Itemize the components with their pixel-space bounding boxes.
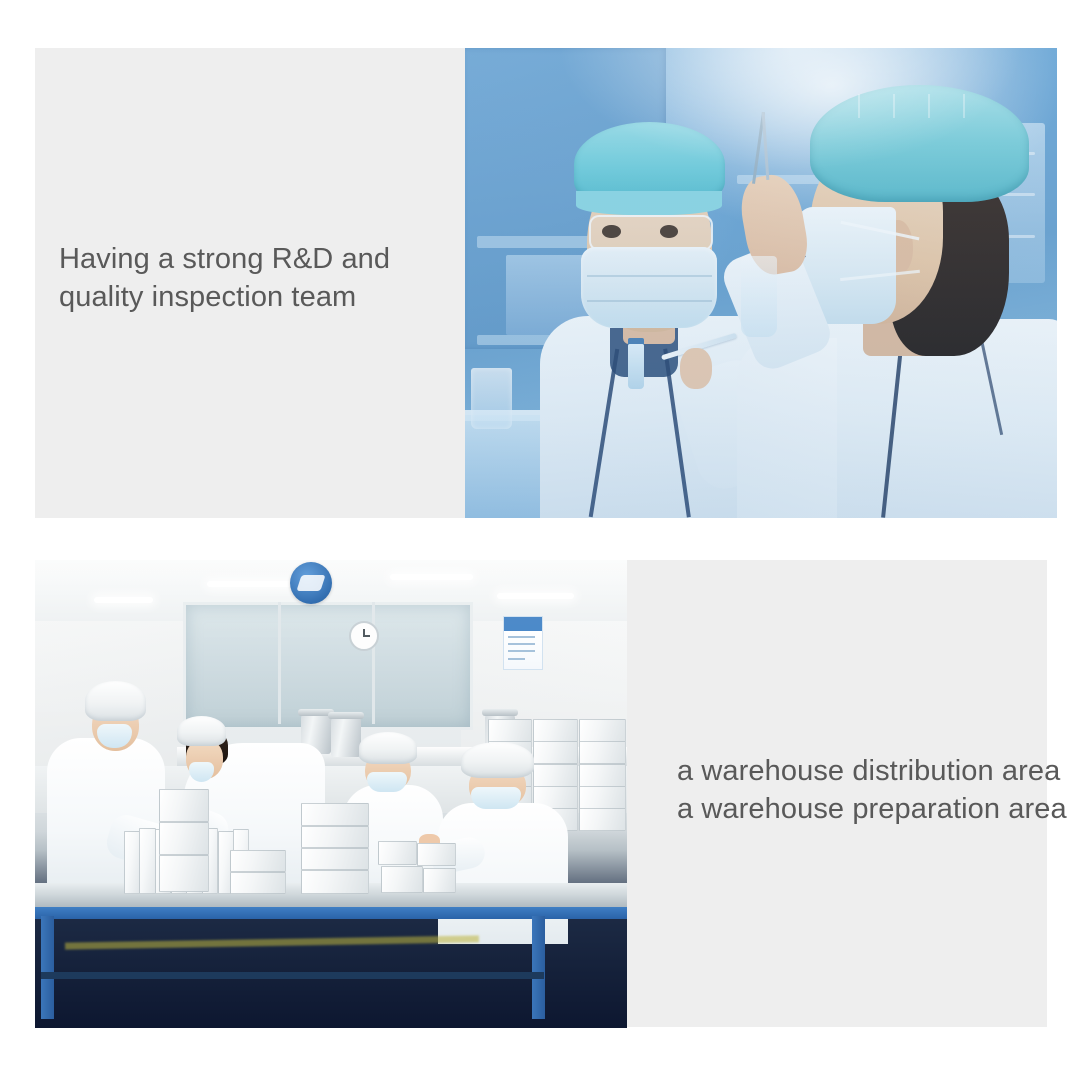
carton <box>301 848 368 870</box>
hairnet-cap <box>85 681 147 721</box>
table-leg <box>41 916 54 1019</box>
carton <box>381 866 423 894</box>
carton <box>579 719 626 742</box>
hairnet-brim <box>576 191 722 215</box>
cap-pleat <box>963 94 965 117</box>
block-warehouse-areas: a warehouse distribution area a warehous… <box>35 560 1047 1028</box>
ceiling-light <box>94 597 153 603</box>
table-rail <box>41 972 544 979</box>
carton <box>124 831 140 895</box>
steel-canister <box>331 717 361 757</box>
carton <box>579 808 626 831</box>
cap-pleat <box>928 94 930 117</box>
eye <box>602 225 620 238</box>
carton <box>230 850 285 872</box>
carton <box>533 719 578 742</box>
lab-scene <box>465 48 1057 518</box>
eye <box>660 225 678 238</box>
tweezers <box>761 112 769 180</box>
hairnet-cap <box>810 85 1029 202</box>
carton <box>533 764 578 787</box>
lab-technician-profile <box>737 67 1057 518</box>
wall-notice-poster <box>503 616 543 670</box>
poster-line <box>508 658 525 660</box>
caption-warehouse-areas: a warehouse distribution area a warehous… <box>677 752 1080 828</box>
ceiling-light <box>390 574 473 580</box>
poster-line <box>508 636 535 638</box>
carton <box>301 870 368 894</box>
warehouse-scene <box>35 560 627 1028</box>
caption-rnd-quality: Having a strong R&D and quality inspecti… <box>59 240 459 316</box>
page-root: Having a strong R&D and quality inspecti… <box>0 0 1080 1080</box>
carton <box>301 803 368 825</box>
hairnet-cap <box>177 716 225 745</box>
blue-circular-sign-icon <box>290 562 332 604</box>
mask-fold <box>587 275 712 277</box>
lab-coat <box>438 803 568 943</box>
box-group-mid <box>230 850 283 892</box>
mask-fold <box>587 300 712 302</box>
warehouse-packing-photo <box>35 560 627 1028</box>
cap-pleat <box>893 94 895 117</box>
box-stack-tall-centre <box>159 789 206 892</box>
carton <box>533 741 578 764</box>
surgical-mask <box>367 772 407 793</box>
caption-panel-bottom: a warehouse distribution area a warehous… <box>627 560 1047 1027</box>
carton <box>159 855 208 892</box>
carton <box>417 843 456 867</box>
flask <box>741 256 777 337</box>
lab-quality-inspection-photo <box>465 48 1057 518</box>
lab-glassware <box>471 368 512 429</box>
shoulder <box>737 338 836 518</box>
carton <box>159 789 208 822</box>
box-group-right <box>378 841 455 892</box>
wall-clock-icon <box>349 621 379 651</box>
block-rnd-quality: Having a strong R&D and quality inspecti… <box>35 48 1057 518</box>
ceiling-light <box>497 593 574 599</box>
hand <box>680 348 711 388</box>
poster-header <box>504 617 542 631</box>
carton <box>579 764 626 787</box>
carton <box>488 719 533 742</box>
carton <box>159 822 208 855</box>
carton <box>579 741 626 764</box>
box-stack-centre <box>301 803 366 892</box>
cap-pleat <box>858 94 860 117</box>
sample-vial <box>628 344 644 388</box>
warehouse-worker <box>438 803 568 943</box>
surgical-mask <box>471 787 520 809</box>
ceiling-light <box>207 581 302 587</box>
window-mullion <box>278 602 281 724</box>
window-mullion <box>372 602 375 724</box>
carton <box>579 786 626 809</box>
hairnet-cap <box>359 732 417 763</box>
poster-line <box>508 643 535 645</box>
poster-line <box>508 650 535 652</box>
table-leg <box>532 916 545 1019</box>
carton <box>301 826 368 848</box>
caption-panel-top: Having a strong R&D and quality inspecti… <box>35 48 465 518</box>
surgical-mask <box>581 247 716 328</box>
carton <box>139 828 155 894</box>
carton <box>423 868 456 894</box>
carton <box>230 872 285 894</box>
carton <box>378 841 417 866</box>
hairnet-cap <box>461 742 534 779</box>
